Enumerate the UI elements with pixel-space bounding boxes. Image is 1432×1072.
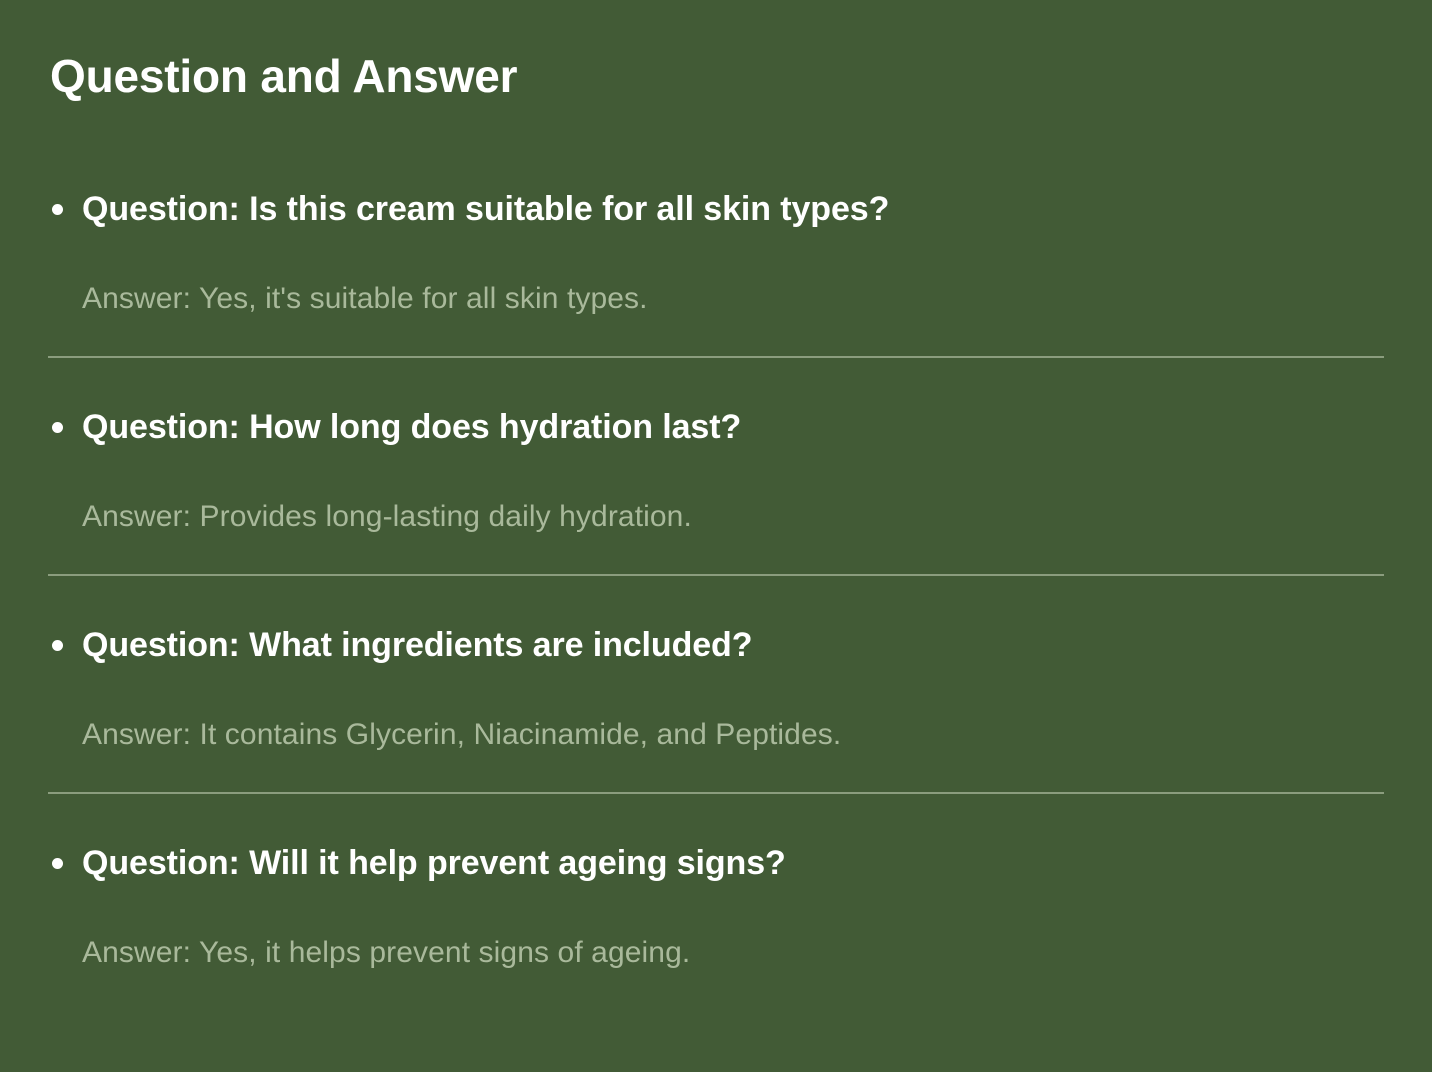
question-and-answer-panel: Question and Answer Question: Is this cr… bbox=[0, 0, 1432, 1072]
bullet-dot-icon bbox=[52, 640, 63, 651]
qa-divider bbox=[48, 356, 1384, 358]
qa-answer: Answer: Provides long-lasting daily hydr… bbox=[82, 496, 1392, 538]
bullet-dot-icon bbox=[52, 422, 63, 433]
qa-question: Question: What ingredients are included? bbox=[82, 622, 1392, 668]
qa-divider bbox=[48, 574, 1384, 576]
qa-item: Question: How long does hydration last? … bbox=[0, 378, 1432, 596]
bullet-dot-icon bbox=[52, 204, 63, 215]
qa-divider bbox=[48, 792, 1384, 794]
qa-answer: Answer: It contains Glycerin, Niacinamid… bbox=[82, 714, 1392, 756]
qa-item: Question: Is this cream suitable for all… bbox=[0, 160, 1432, 378]
qa-answer: Answer: Yes, it's suitable for all skin … bbox=[82, 278, 1392, 320]
qa-question: Question: Is this cream suitable for all… bbox=[82, 186, 1392, 232]
qa-question: Question: How long does hydration last? bbox=[82, 404, 1392, 450]
qa-answer: Answer: Yes, it helps prevent signs of a… bbox=[82, 932, 1392, 974]
qa-question: Question: Will it help prevent ageing si… bbox=[82, 840, 1392, 886]
page-title: Question and Answer bbox=[50, 47, 517, 105]
bullet-dot-icon bbox=[52, 858, 63, 869]
qa-item: Question: What ingredients are included?… bbox=[0, 596, 1432, 814]
qa-list: Question: Is this cream suitable for all… bbox=[0, 160, 1432, 814]
